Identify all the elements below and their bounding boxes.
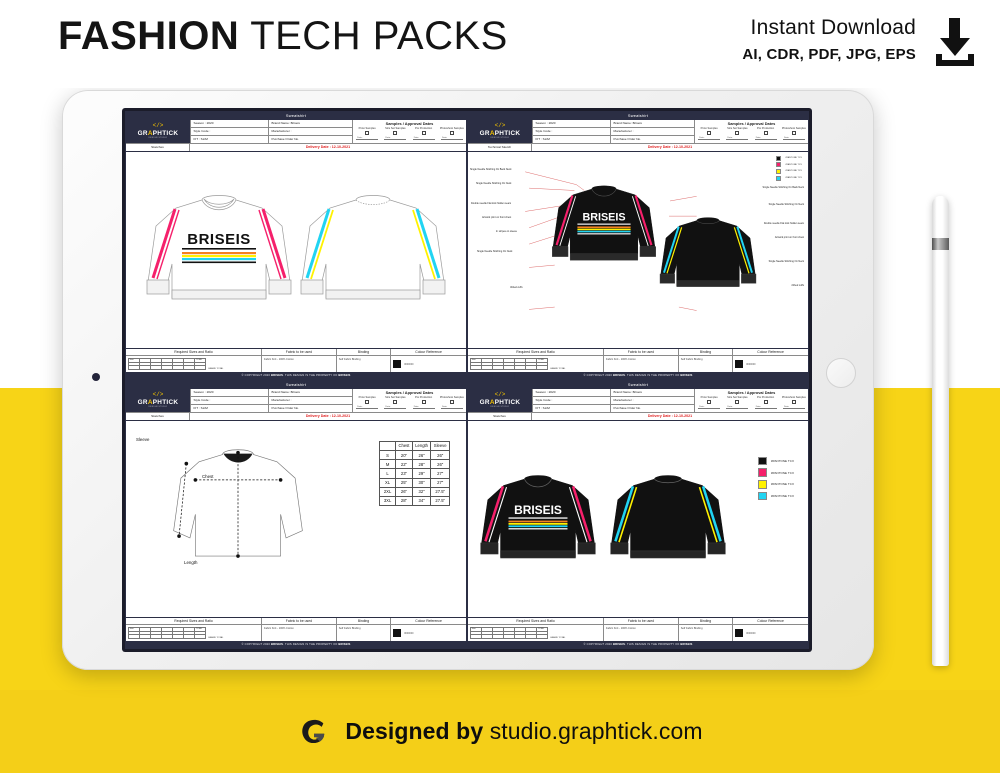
home-button[interactable] [826,358,856,388]
approval-checkbox[interactable] [792,131,796,135]
garment-title: Sweatshirt [468,381,808,389]
table-row: 2XL26"32"27.5" [380,487,450,496]
approval-col-sizeset: Size Set Samples Date: [723,127,751,142]
approval-col-preproduction: Pre Production Date: [752,396,780,411]
approval-date-input[interactable]: Date: [783,137,805,140]
designed-by-label: Designed by [345,718,489,744]
fabric-header: Fabric to be used [604,349,678,357]
logo-wordmark: GRAPHTICK [480,399,521,406]
section-label: Technical Sketch [468,144,532,151]
approval-label: Pre Production [757,396,774,399]
fit-field[interactable]: FIT : SLIM [532,136,610,143]
approval-checkbox[interactable] [764,131,768,135]
fabric-value: Fabric Knit - 100% Cotton [262,356,336,372]
manufacturer-field[interactable]: Manufacturer : [268,397,352,405]
required-sizes-block: Required Sizes and Ratio SizeTOTAL GRAND… [126,618,262,642]
pink-swatch [758,468,767,477]
binding-header: Binding [337,618,390,626]
fabric-block: Fabric to be used Fabric Knit - 100% Cot… [604,349,679,373]
approval-col-sizeset: Size Set Samples Date: [381,127,409,142]
colour-reference-block: Colour Reference #000000 [391,618,466,642]
style-code-field[interactable]: Style Code : [532,128,610,136]
manufacturer-field[interactable]: Manufacturer : [610,128,694,136]
approval-label: Size Set Samples [385,396,405,399]
approval-label: Photoshoot Samples [440,127,464,130]
purchase-order-field[interactable]: Purchase Order No. [610,136,694,143]
file-formats-label: AI, CDR, PDF, JPG, EPS [742,46,916,63]
table-row: L23"29"27" [380,469,450,478]
sweatshirt-back-black [608,468,728,570]
binding-header: Binding [337,349,390,357]
annotation-flatlock-right: Double needle Flat lock hidden seam [764,222,804,225]
binding-value: Self Fabric Binding [337,625,390,641]
colour-reference-block: Colour Reference #000000 [733,618,808,642]
size-ratio-table[interactable]: SizeTOTAL [470,627,548,639]
page-header: FASHION TECH PACKS Instant Download AI, … [0,0,1000,88]
size-chart-table[interactable]: Chest Length Sleeve S20"26"26" M22"28"26… [379,441,450,506]
colour-code: #000000 [404,363,413,366]
colour-header: Colour Reference [391,618,466,626]
fabric-value: Fabric Knit - 100% Cotton [604,625,678,641]
binding-value: Self Fabric Binding [337,356,390,372]
fabric-header: Fabric to be used [262,349,336,357]
brand-name-field[interactable]: Brand Name: Briseis [610,389,694,397]
approval-col-preproduction: Pre Production Date: [410,396,438,411]
table-row: S20"26"26" [380,450,450,459]
graphtick-logo: </> GRAPHTICK DESIGN STUDIO [126,120,190,143]
size-ratio-table[interactable]: SizeTOTAL [128,627,206,639]
page-title: FASHION TECH PACKS [58,14,508,59]
approval-label: Proto Samples [701,127,718,130]
size-chart-col-3: Sleeve [431,441,450,450]
title-light-part: TECH PACKS [239,14,508,58]
style-code-field[interactable]: Style Code : [190,397,268,405]
approval-checkbox[interactable] [792,400,796,404]
season-field[interactable]: Season : 2020 [532,389,610,397]
swatch-label: #PANTONE TCX [771,459,794,463]
colour-header: Colour Reference [733,618,808,626]
table-row: M22"28"26" [380,460,450,469]
sheet-footer: Required Sizes and Ratio SizeTOTAL GRAND… [126,348,466,379]
garment-title: Sweatshirt [468,112,808,120]
chest-print-text: BRISEIS [514,503,562,517]
swatch-row: #PANTONE TCX [776,169,802,174]
manufacturer-field[interactable]: Manufacturer : [610,397,694,405]
samples-approval-block: Samples / Approval Dates Proto Samples D… [352,120,466,143]
measure-label-length: Length [184,560,197,565]
approval-date-input[interactable]: Date: [384,137,406,140]
sweatshirt-back-white [298,186,448,314]
sheet-footer: Required Sizes and Ratio SizeTOTAL GRAND… [126,617,466,648]
section-label: Sketches [126,413,190,420]
approval-checkbox[interactable] [764,400,768,404]
sheet-header: Sweatshirt </> GRAPHTICK DESIGN STUDIO S… [468,112,808,152]
colour-code: #000000 [746,363,755,366]
approval-label: Pre Production [415,396,432,399]
purchase-order-field[interactable]: Purchase Order No. [268,136,352,143]
info-column-left: Season : 2020 Style Code : FIT : SLIM [190,120,268,143]
logo-tagline: DESIGN STUDIO [491,137,510,139]
binding-block: Binding Self Fabric Binding [679,349,733,373]
cyan-swatch [776,176,781,181]
size-ratio-table[interactable]: SizeTOTAL [128,358,206,370]
tech-pack-sheet-3[interactable]: Sweatshirt </> GRAPHTICK DESIGN STUDIO S… [125,380,467,649]
approval-date-input[interactable]: Date: [755,137,777,140]
graphtick-logo: </> GRAPHTICK DESIGN STUDIO [468,120,532,143]
swatch-label: #PANTONE TCX [771,482,794,486]
sheet-footer: Required Sizes and Ratio SizeTOTAL GRAND… [468,617,808,648]
approval-col-photoshoot: Photoshoot Samples Date: [780,396,808,411]
required-sizes-block: Required Sizes and Ratio SizeTOTAL GRAND… [468,618,604,642]
logo-tagline: DESIGN STUDIO [149,406,168,408]
colour-swatch-legend-small: #PANTONE TCX #PANTONE TCX #PANTONE TCX #… [776,156,802,181]
ipad-screen: Sweatshirt </> GRAPHTICK DESIGN STUDIO S… [122,108,812,652]
code-brackets-icon: </> [153,123,164,129]
approval-checkbox[interactable] [365,131,369,135]
approval-label: Pre Production [757,127,774,130]
annotation-neck-right: Single Needle Stitching On Neck [769,203,804,206]
colour-swatch-legend-large: #PANTONE TCX #PANTONE TCX #PANTONE TCX [758,457,794,501]
fabric-block: Fabric to be used Fabric Knit - 100% Cot… [262,349,337,373]
swatch-row-cyan: #PANTONE TCX [758,492,794,501]
sizes-header: Required Sizes and Ratio [126,618,261,626]
size-ratio-table[interactable]: SizeTOTAL [470,358,548,370]
brand-name-field[interactable]: Brand Name: Briseis [268,389,352,397]
fabric-value: Fabric Knit - 100% Cotton [604,356,678,372]
info-column-left: Season : 2020 Style Code : FIT : SLIM [190,389,268,412]
approval-checkbox[interactable] [707,400,711,404]
fit-field[interactable]: FIT : SLIM [532,405,610,412]
code-brackets-icon: </> [495,123,506,129]
approval-label: Proto Samples [359,127,376,130]
sweatshirt-front-black: BRISEIS [478,468,598,570]
measure-label-sleeve: Sleeve [136,437,149,442]
tech-pack-grid: Sweatshirt </> GRAPHTICK DESIGN STUDIO S… [125,111,809,649]
approval-date-input[interactable]: Date: [356,406,378,409]
approval-col-proto: Proto Samples Date: [695,396,723,411]
ipad-device-mockup: Sweatshirt </> GRAPHTICK DESIGN STUDIO S… [62,90,874,670]
swatch-row: #PANTONE TCX [776,156,802,161]
season-field[interactable]: Season : 2020 [190,120,268,128]
annotation-cuffs-right: ribbed cuffs [791,284,804,287]
approval-checkbox[interactable] [365,400,369,404]
swatch-row: #PANTONE TCX [776,162,802,167]
grand-total-label: GRAND TOTAL [550,368,565,371]
colour-reference-block: Colour Reference #000000 [391,349,466,373]
approval-date-input[interactable]: Date: [384,406,406,409]
approval-date-input[interactable]: Date: [413,406,435,409]
approval-label: Photoshoot Samples [782,127,806,130]
annotation-back-neck-right: Single Needle Stitching On Back Neck [763,186,804,189]
approval-date-input[interactable]: Date: [441,406,463,409]
delivery-date: Delivery Date : 12-10-2021 [532,144,808,151]
fabric-header: Fabric to be used [604,618,678,626]
graphtick-logo: </> GRAPHTICK DESIGN STUDIO [468,389,532,412]
tech-pack-sheet-1[interactable]: Sweatshirt </> GRAPHTICK DESIGN STUDIO S… [125,111,467,380]
section-label: Sketches [126,144,190,151]
sweatshirt-front-white: BRISEIS [144,186,294,314]
designed-by-text: Designed by studio.graphtick.com [345,718,702,745]
chest-print-text: BRISEIS [187,231,251,248]
approval-date-input[interactable]: Date: [413,137,435,140]
size-chart-col-1: Chest [396,441,413,450]
binding-block: Binding Self Fabric Binding [337,349,391,373]
chest-print-text: BRISEIS [582,212,625,224]
fabric-value: Fabric Knit - 100% Cotton [262,625,336,641]
fabric-header: Fabric to be used [262,618,336,626]
copyright-bar: © COPYRIGHT 2020 BRISEIS. THIS DESIGN IS… [126,372,466,379]
sheet-body-technical: Single Needle Stitching On Back Neck Sin… [468,152,808,348]
sizes-header: Required Sizes and Ratio [468,349,603,357]
sheet-body-colorway: BRISEIS [468,421,808,617]
approval-col-preproduction: Pre Production Date: [410,127,438,142]
sheet-footer: Required Sizes and Ratio SizeTOTAL GRAND… [468,348,808,379]
delivery-date: Delivery Date : 12-10-2021 [532,413,808,420]
sweatshirt-back-black-technical [658,211,758,297]
size-chart-col-0 [380,441,396,450]
annotation-neck2-right: Single Needle Stitching On Neck [769,260,804,263]
studio-url: studio.graphtick.com [490,718,703,744]
title-bold-part: FASHION [58,14,239,58]
style-code-field[interactable]: Style Code : [190,128,268,136]
approval-checkbox[interactable] [422,400,426,404]
yellow-swatch [776,169,781,174]
info-column-right: Brand Name: Briseis Manufacturer : Purch… [268,389,352,412]
table-row: 3XL28"34"27.5" [380,496,450,505]
approval-label: Proto Samples [359,396,376,399]
grand-total-label: GRAND TOTAL [208,368,223,371]
size-chart-header-row: Chest Length Sleeve [380,441,450,450]
colour-header: Colour Reference [733,349,808,357]
size-chart-col-2: Length [412,441,431,450]
colour-header: Colour Reference [391,349,466,357]
code-brackets-icon: </> [153,392,164,398]
approval-checkbox[interactable] [450,400,454,404]
yellow-swatch [758,480,767,489]
sheet-header: Sweatshirt </> GRAPHTICK DESIGN STUDIO S… [468,381,808,421]
logo-wordmark: GRAPHTICK [480,130,521,137]
info-column-left: Season : 2020 Style Code : FIT : SLIM [532,389,610,412]
samples-approval-block: Samples / Approval Dates Proto Samples D… [694,120,808,143]
sizes-header: Required Sizes and Ratio [126,349,261,357]
brand-name-field[interactable]: Brand Name: Briseis [268,120,352,128]
tech-pack-sheet-2[interactable]: Sweatshirt </> GRAPHTICK DESIGN STUDIO S… [467,111,809,380]
pencil-body [932,196,949,666]
sheet-body-sketches: BRISEIS [126,152,466,348]
approval-date-input[interactable]: Date: [726,406,748,409]
approval-checkbox[interactable] [393,131,397,135]
tech-pack-sheet-4[interactable]: Sweatshirt </> GRAPHTICK DESIGN STUDIO S… [467,380,809,649]
sizes-header: Required Sizes and Ratio [468,618,603,626]
binding-value: Self Fabric Binding [679,356,732,372]
approval-date-input[interactable]: Date: [783,406,805,409]
approval-col-preproduction: Pre Production Date: [752,127,780,142]
download-icon [932,16,978,68]
approval-date-input[interactable]: Date: [726,137,748,140]
binding-header: Binding [679,349,732,357]
approval-date-input[interactable]: Date: [755,406,777,409]
annotation-artwork-right: Artwork print on front chest [775,236,804,239]
info-column-right: Brand Name: Briseis Manufacturer : Purch… [610,389,694,412]
approval-checkbox[interactable] [735,131,739,135]
season-field[interactable]: Season : 2020 [190,389,268,397]
code-brackets-icon: </> [495,392,506,398]
swatch-row-black: #PANTONE TCX [758,457,794,466]
samples-approval-block: Samples / Approval Dates Proto Samples D… [694,389,808,412]
purchase-order-field[interactable]: Purchase Order No. [610,405,694,412]
approval-label: Proto Samples [701,396,718,399]
colour-swatch [735,629,743,637]
logo-wordmark: GRAPHTICK [138,130,179,137]
sheet-header: Sweatshirt </> GRAPHTICK DESIGN STUDIO S… [126,112,466,152]
graphtick-logo: </> GRAPHTICK DESIGN STUDIO [126,389,190,412]
approval-col-sizeset: Size Set Samples Date: [723,396,751,411]
approval-label: Size Set Samples [727,127,747,130]
swatch-row: #PANTONE TCX [776,176,802,181]
grand-total-label: GRAND TOTAL [208,637,223,640]
fit-field[interactable]: FIT : SLIM [190,405,268,412]
cyan-swatch [758,492,767,501]
swatch-label: #PANTONE TCX [771,471,794,475]
colour-swatch [393,629,401,637]
approval-label: Photoshoot Samples [440,396,464,399]
info-column-left: Season : 2020 Style Code : FIT : SLIM [532,120,610,143]
section-label: Sketches [468,413,532,420]
binding-header: Binding [679,618,732,626]
sheet-body-measurements: Sleeve Chest Length Chest Length Sleeve [126,421,466,617]
purchase-order-field[interactable]: Purchase Order No. [268,405,352,412]
approval-checkbox[interactable] [393,400,397,404]
required-sizes-block: Required Sizes and Ratio SizeTOTAL GRAND… [126,349,262,373]
garment-title: Sweatshirt [126,381,466,389]
front-camera-icon [92,373,100,381]
binding-value: Self Fabric Binding [679,625,732,641]
colour-code: #000000 [746,632,755,635]
approval-col-photoshoot: Photoshoot Samples Date: [780,127,808,142]
required-sizes-block: Required Sizes and Ratio SizeTOTAL GRAND… [468,349,604,373]
approval-col-sizeset: Size Set Samples Date: [381,396,409,411]
binding-block: Binding Self Fabric Binding [337,618,391,642]
approval-date-input[interactable]: Date: [441,137,463,140]
approval-label: Size Set Samples [385,127,405,130]
swatch-row-yellow: #PANTONE TCX [758,480,794,489]
approval-checkbox[interactable] [422,131,426,135]
black-swatch [758,457,767,466]
approval-label: Size Set Samples [727,396,747,399]
colour-reference-block: Colour Reference #000000 [733,349,808,373]
graphtick-g-logo [297,715,331,749]
sheet-header: Sweatshirt </> GRAPHTICK DESIGN STUDIO S… [126,381,466,421]
sweatshirt-front-black-technical: BRISEIS [550,179,658,271]
fabric-block: Fabric to be used Fabric Knit - 100% Cot… [262,618,337,642]
header-right-info: Instant Download AI, CDR, PDF, JPG, EPS [742,16,916,63]
colour-swatch [393,360,401,368]
apple-pencil-stylus [932,196,949,666]
colour-swatch [735,360,743,368]
instant-download-label: Instant Download [742,16,916,40]
brand-name-field[interactable]: Brand Name: Briseis [610,120,694,128]
binding-block: Binding Self Fabric Binding [679,618,733,642]
logo-tagline: DESIGN STUDIO [491,406,510,408]
approval-col-proto: Proto Samples Date: [695,127,723,142]
designed-by-bar: Designed by studio.graphtick.com [0,690,1000,773]
pink-swatch [776,162,781,167]
logo-wordmark: GRAPHTICK [138,399,179,406]
approval-checkbox[interactable] [735,400,739,404]
approval-date-input[interactable]: Date: [698,137,720,140]
samples-approval-block: Samples / Approval Dates Proto Samples D… [352,389,466,412]
logo-tagline: DESIGN STUDIO [149,137,168,139]
season-field[interactable]: Season : 2020 [532,120,610,128]
colour-code: #000000 [404,632,413,635]
table-row: XL25"30"27" [380,478,450,487]
approval-label: Pre Production [415,127,432,130]
fabric-block: Fabric to be used Fabric Knit - 100% Cot… [604,618,679,642]
approval-checkbox[interactable] [707,131,711,135]
black-swatch [776,156,781,161]
copyright-bar: © COPYRIGHT 2020 BRISEIS. THIS DESIGN IS… [126,641,466,648]
approval-col-photoshoot: Photoshoot Samples Date: [438,127,466,142]
info-column-right: Brand Name: Briseis Manufacturer : Purch… [610,120,694,143]
approval-col-proto: Proto Samples Date: [353,396,381,411]
approval-date-input[interactable]: Date: [356,137,378,140]
copyright-bar: © COPYRIGHT 2020 BRISEIS. THIS DESIGN IS… [468,372,808,379]
garment-title: Sweatshirt [126,112,466,120]
delivery-date: Delivery Date : 12-10-2021 [190,144,466,151]
approval-date-input[interactable]: Date: [698,406,720,409]
approval-label: Photoshoot Samples [782,396,806,399]
copyright-bar: © COPYRIGHT 2020 BRISEIS. THIS DESIGN IS… [468,641,808,648]
approval-col-photoshoot: Photoshoot Samples Date: [438,396,466,411]
pencil-silver-band [932,238,949,250]
approval-col-proto: Proto Samples Date: [353,127,381,142]
manufacturer-field[interactable]: Manufacturer : [268,128,352,136]
fit-field[interactable]: FIT : SLIM [190,136,268,143]
grand-total-label: GRAND TOTAL [550,637,565,640]
swatch-label: #PANTONE TCX [771,494,794,498]
approval-checkbox[interactable] [450,131,454,135]
measure-label-chest: Chest [202,474,213,479]
swatch-row-pink: #PANTONE TCX [758,468,794,477]
delivery-date: Delivery Date : 12-10-2021 [190,413,466,420]
style-code-field[interactable]: Style Code : [532,397,610,405]
info-column-right: Brand Name: Briseis Manufacturer : Purch… [268,120,352,143]
